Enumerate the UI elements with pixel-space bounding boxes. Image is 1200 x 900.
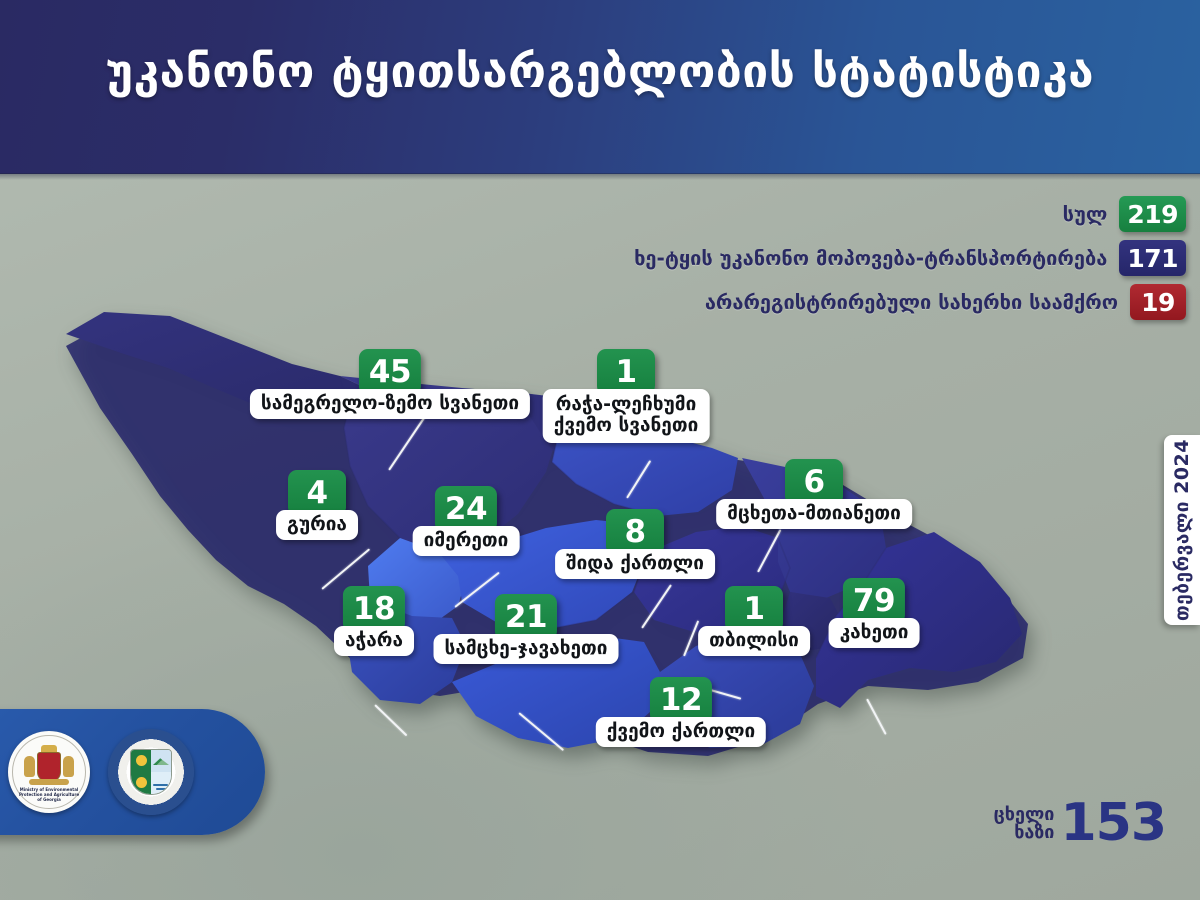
sun-icon-lower (136, 777, 147, 788)
shield-quadrant-bottom-right (151, 772, 171, 794)
legend-badge-sawmill: 19 (1130, 284, 1186, 320)
hotline-number: 153 (1060, 800, 1166, 848)
legend-badge-logging: 171 (1119, 240, 1186, 276)
name-plate-guria: გურია (276, 510, 358, 540)
name-plate-adjara: აჭარა (334, 626, 414, 656)
hotline-label: ცხელი ხაზი (994, 806, 1055, 842)
emblem-caption: Ministry of Environmental Protection and… (8, 787, 90, 802)
supervision-shield-icon (130, 749, 172, 795)
legend-label-total: სულ (1063, 202, 1108, 226)
hotline-block: ცხელი ხაზი 153 (994, 800, 1166, 848)
legend-badge-total: 219 (1119, 196, 1186, 232)
name-plate-racha: რაჭა-ლეჩხუმი ქვემო სვანეთი (543, 389, 710, 443)
wave-icon-lower (156, 788, 168, 790)
emblem-lion-right-icon (63, 756, 74, 777)
name-plate-mtskheta: მცხეთა-მთიანეთი (716, 499, 912, 529)
emblem-lion-left-icon (24, 756, 35, 777)
sun-icon-upper (136, 755, 147, 766)
ministry-emblem-icon: Ministry of Environmental Protection and… (8, 731, 90, 813)
name-plate-racha-line2: ქვემო სვანეთი (554, 415, 699, 436)
name-plate-shida: შიდა ქართლი (555, 549, 715, 579)
name-plate-imereti: იმერეთი (413, 526, 520, 556)
infographic-canvas: უკანონო ტყითსარგებლობის სტატისტიკა სულ 2… (0, 0, 1200, 900)
supervision-emblem-icon (108, 729, 194, 815)
name-plate-samegrelo: სამეგრელო-ზემო სვანეთი (250, 389, 530, 419)
emblem-crown-icon (41, 745, 57, 752)
hotline-label-line2: ხაზი (994, 824, 1055, 842)
logo-pill: Ministry of Environmental Protection and… (0, 709, 265, 835)
date-tab: თებერვალი 2024 (1164, 435, 1200, 625)
name-plate-kvemo: ქვემო ქართლი (596, 717, 766, 747)
name-plate-racha-line1: რაჭა-ლეჩხუმი (554, 394, 699, 415)
name-plate-samtskhe: სამცხე-ჯავახეთი (434, 634, 619, 664)
emblem-base-icon (29, 779, 69, 785)
page-title: უკანონო ტყითსარგებლობის სტატისტიკა (0, 44, 1200, 98)
wave-icon-upper (153, 784, 168, 786)
emblem-caption-line3: of Georgia (8, 797, 90, 802)
legend-row-logging: ხე-ტყის უკანონო მოპოვება-ტრანსპორტირება … (634, 240, 1186, 276)
date-label: თებერვალი 2024 (1171, 439, 1193, 621)
name-plate-tbilisi: თბილისი (698, 626, 810, 656)
legend-label-logging: ხე-ტყის უკანონო მოპოვება-ტრანსპორტირება (634, 246, 1107, 270)
legend-row-total: სულ 219 (1063, 196, 1186, 232)
header-banner: უკანონო ტყითსარგებლობის სტატისტიკა (0, 0, 1200, 174)
name-plate-kakheti: კახეთი (829, 618, 920, 648)
